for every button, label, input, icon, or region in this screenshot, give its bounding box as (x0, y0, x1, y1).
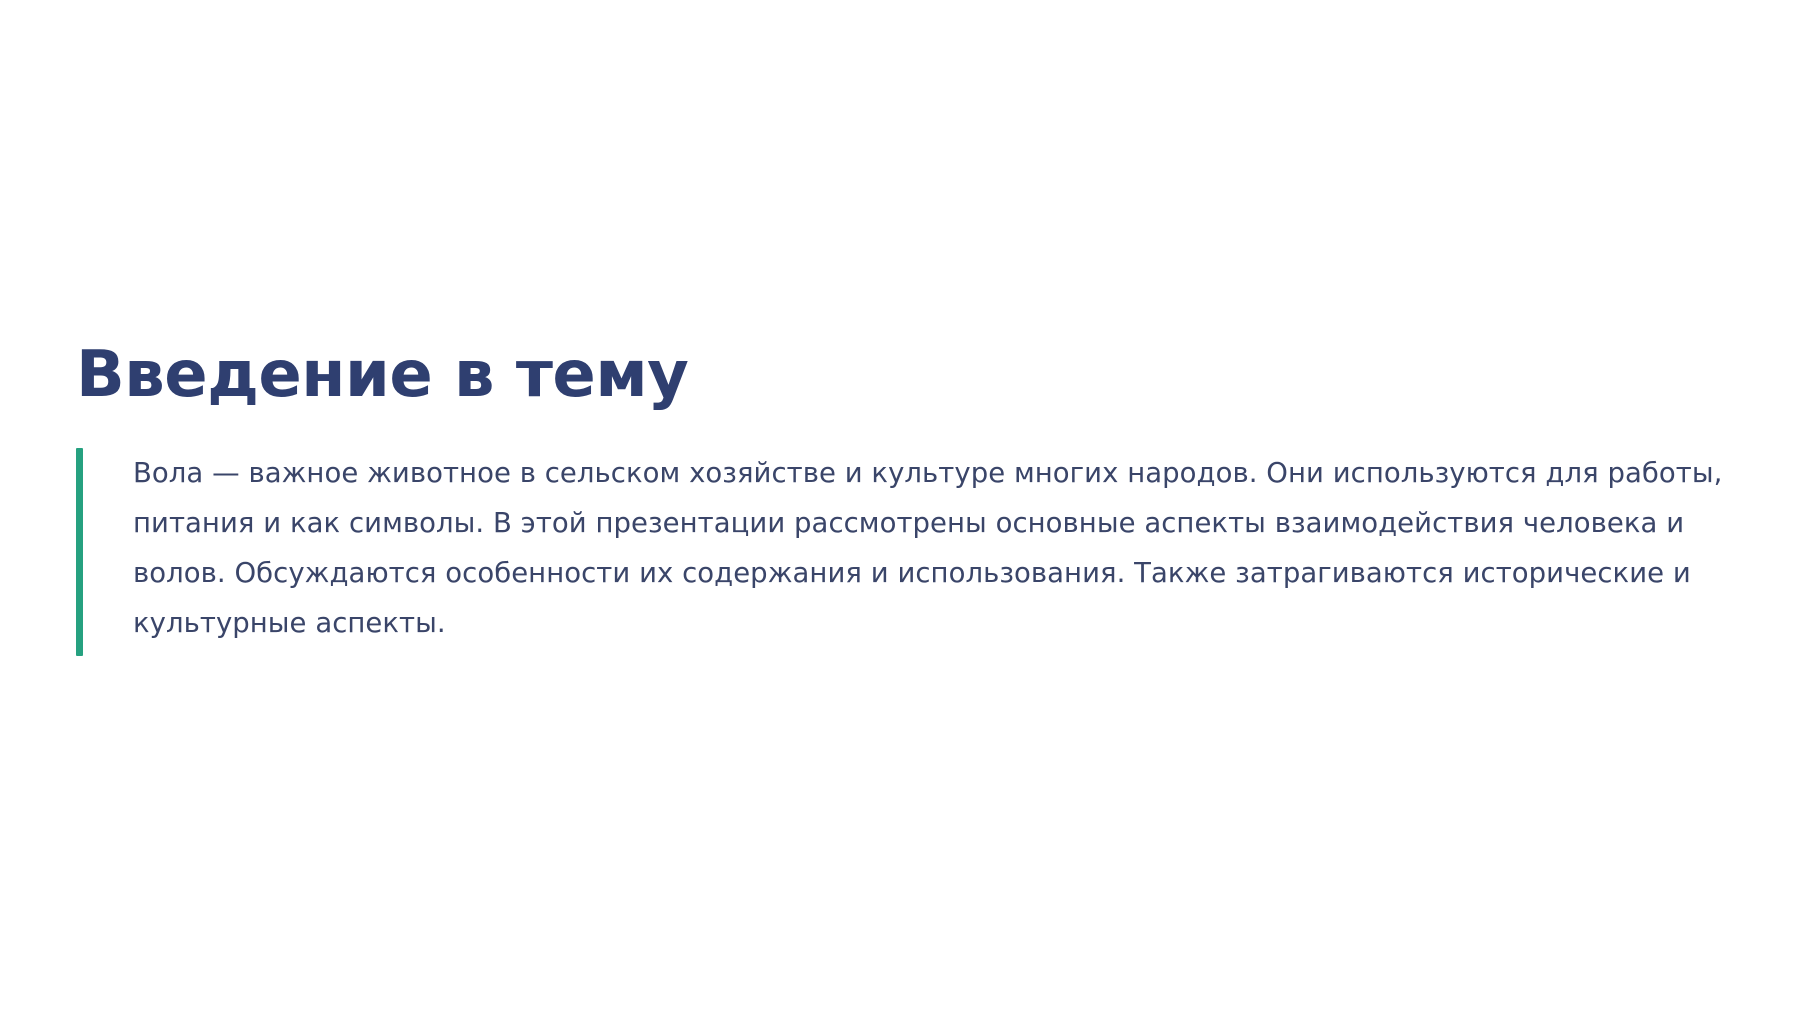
presentation-slide: Введение в тему Вола — важное животное в… (0, 0, 1800, 1013)
slide-content: Введение в тему Вола — важное животное в… (76, 340, 1736, 656)
body-paragraph: Вола — важное животное в сельском хозяйс… (133, 448, 1736, 648)
page-title: Введение в тему (76, 340, 1736, 412)
accent-bar (76, 448, 83, 656)
body-block: Вола — важное животное в сельском хозяйс… (76, 448, 1736, 656)
